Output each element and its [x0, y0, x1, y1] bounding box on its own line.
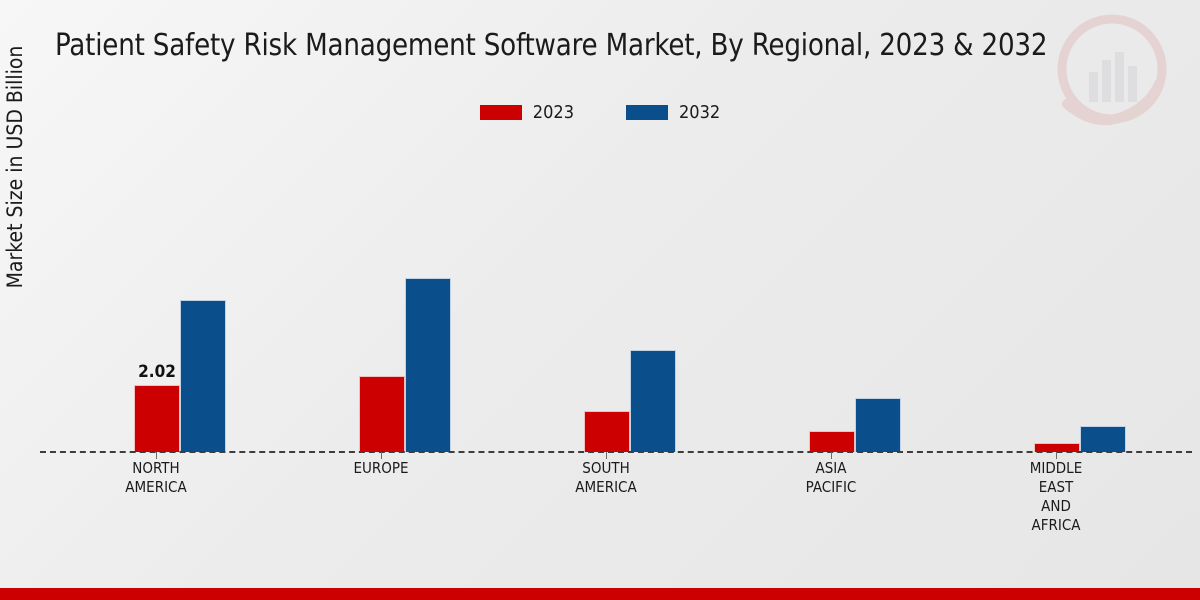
bar-group-europe — [335, 140, 475, 452]
bottom-accent-band — [0, 588, 1200, 600]
legend-item-2032[interactable]: 2032 — [626, 102, 720, 123]
x-axis-label-middle-east-and-africa-line1: MIDDLE — [976, 459, 1136, 478]
bar-group-middle-east-and-africa — [1010, 140, 1150, 452]
bar-north-america-2032[interactable] — [180, 300, 226, 452]
x-axis-label-asia-pacific-line2: PACIFIC — [751, 478, 911, 497]
legend-label-2032: 2032 — [679, 102, 720, 123]
legend-label-2023: 2023 — [533, 102, 574, 123]
x-axis-label-north-america: NORTH AMERICA — [76, 459, 236, 497]
bar-middle-east-and-africa-2032[interactable] — [1080, 426, 1126, 452]
bar-group-asia-pacific — [785, 140, 925, 452]
bar-asia-pacific-2023[interactable] — [809, 431, 855, 452]
chart-legend: 2023 2032 — [0, 102, 1200, 123]
bar-south-america-2023[interactable] — [584, 411, 630, 452]
x-axis-label-middle-east-and-africa-line3: AND — [976, 497, 1136, 516]
bar-europe-2023[interactable] — [359, 376, 405, 452]
x-axis-tick-north-america — [156, 452, 157, 459]
x-axis-baseline — [40, 451, 1192, 453]
bar-asia-pacific-2032[interactable] — [855, 398, 901, 452]
x-axis-label-south-america-line1: SOUTH — [526, 459, 686, 478]
x-axis-label-asia-pacific-line1: ASIA — [751, 459, 911, 478]
bar-europe-2032[interactable] — [405, 278, 451, 452]
x-axis-label-south-america: SOUTH AMERICA — [526, 459, 686, 497]
legend-item-2023[interactable]: 2023 — [480, 102, 574, 123]
x-axis-label-europe-line1: EUROPE — [301, 459, 461, 478]
legend-swatch-2023 — [480, 105, 522, 120]
bar-value-north-america-2023: 2.02 — [138, 362, 176, 382]
x-axis-label-north-america-line1: NORTH — [76, 459, 236, 478]
x-axis-tick-asia-pacific — [831, 452, 832, 459]
x-axis-label-middle-east-and-africa: MIDDLE EAST AND AFRICA — [976, 459, 1136, 535]
x-axis-label-south-america-line2: AMERICA — [526, 478, 686, 497]
x-axis-tick-europe — [381, 452, 382, 459]
chart-container: Patient Safety Risk Management Software … — [0, 0, 1200, 600]
bar-north-america-2023[interactable]: 2.02 — [134, 385, 180, 452]
x-axis-tick-middle-east-and-africa — [1056, 452, 1057, 459]
legend-swatch-2032 — [626, 105, 668, 120]
x-axis-label-asia-pacific: ASIA PACIFIC — [751, 459, 911, 497]
bar-south-america-2032[interactable] — [630, 350, 676, 452]
plot-area: 2.02 — [40, 140, 1200, 452]
x-axis-tick-south-america — [606, 452, 607, 459]
bar-group-north-america: 2.02 — [110, 140, 250, 452]
x-axis-label-europe: EUROPE — [301, 459, 461, 478]
x-axis-label-middle-east-and-africa-line4: AFRICA — [976, 516, 1136, 535]
chart-title: Patient Safety Risk Management Software … — [55, 28, 1151, 63]
y-axis-title: Market Size in USD Billion — [3, 0, 33, 337]
x-axis-label-north-america-line2: AMERICA — [76, 478, 236, 497]
bar-group-south-america — [560, 140, 700, 452]
x-axis-label-middle-east-and-africa-line2: EAST — [976, 478, 1136, 497]
